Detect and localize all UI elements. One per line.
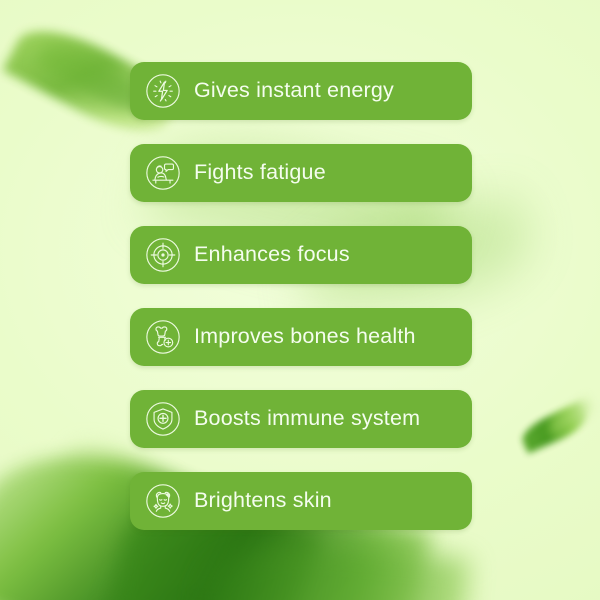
shield-cross-icon <box>144 400 182 438</box>
benefit-item-brightens-skin[interactable]: Brightens skin <box>130 472 472 530</box>
target-crosshair-icon <box>144 236 182 274</box>
benefit-item-immune-system[interactable]: Boosts immune system <box>130 390 472 448</box>
glowing-face-icon <box>144 482 182 520</box>
benefit-item-fights-fatigue[interactable]: Fights fatigue <box>130 144 472 202</box>
right-small-leaf2-icon <box>545 397 596 437</box>
benefit-label: Boosts immune system <box>194 408 420 430</box>
benefits-list: Gives instant energy <box>130 62 472 530</box>
benefit-item-instant-energy[interactable]: Gives instant energy <box>130 62 472 120</box>
benefit-label: Improves bones health <box>194 326 416 348</box>
benefit-item-enhances-focus[interactable]: Enhances focus <box>130 226 472 284</box>
tired-person-desk-icon <box>144 154 182 192</box>
right-small-leaf-icon <box>518 402 591 453</box>
bone-joint-plus-icon <box>144 318 182 356</box>
benefit-label: Brightens skin <box>194 490 332 512</box>
benefits-poster: Gives instant energy <box>0 0 600 600</box>
benefit-label: Fights fatigue <box>194 162 326 184</box>
lightning-bolt-icon <box>144 72 182 110</box>
bottom-left-leaf3-icon <box>200 532 470 600</box>
benefit-item-bones-health[interactable]: Improves bones health <box>130 308 472 366</box>
benefit-label: Gives instant energy <box>194 80 394 102</box>
benefit-label: Enhances focus <box>194 244 350 266</box>
